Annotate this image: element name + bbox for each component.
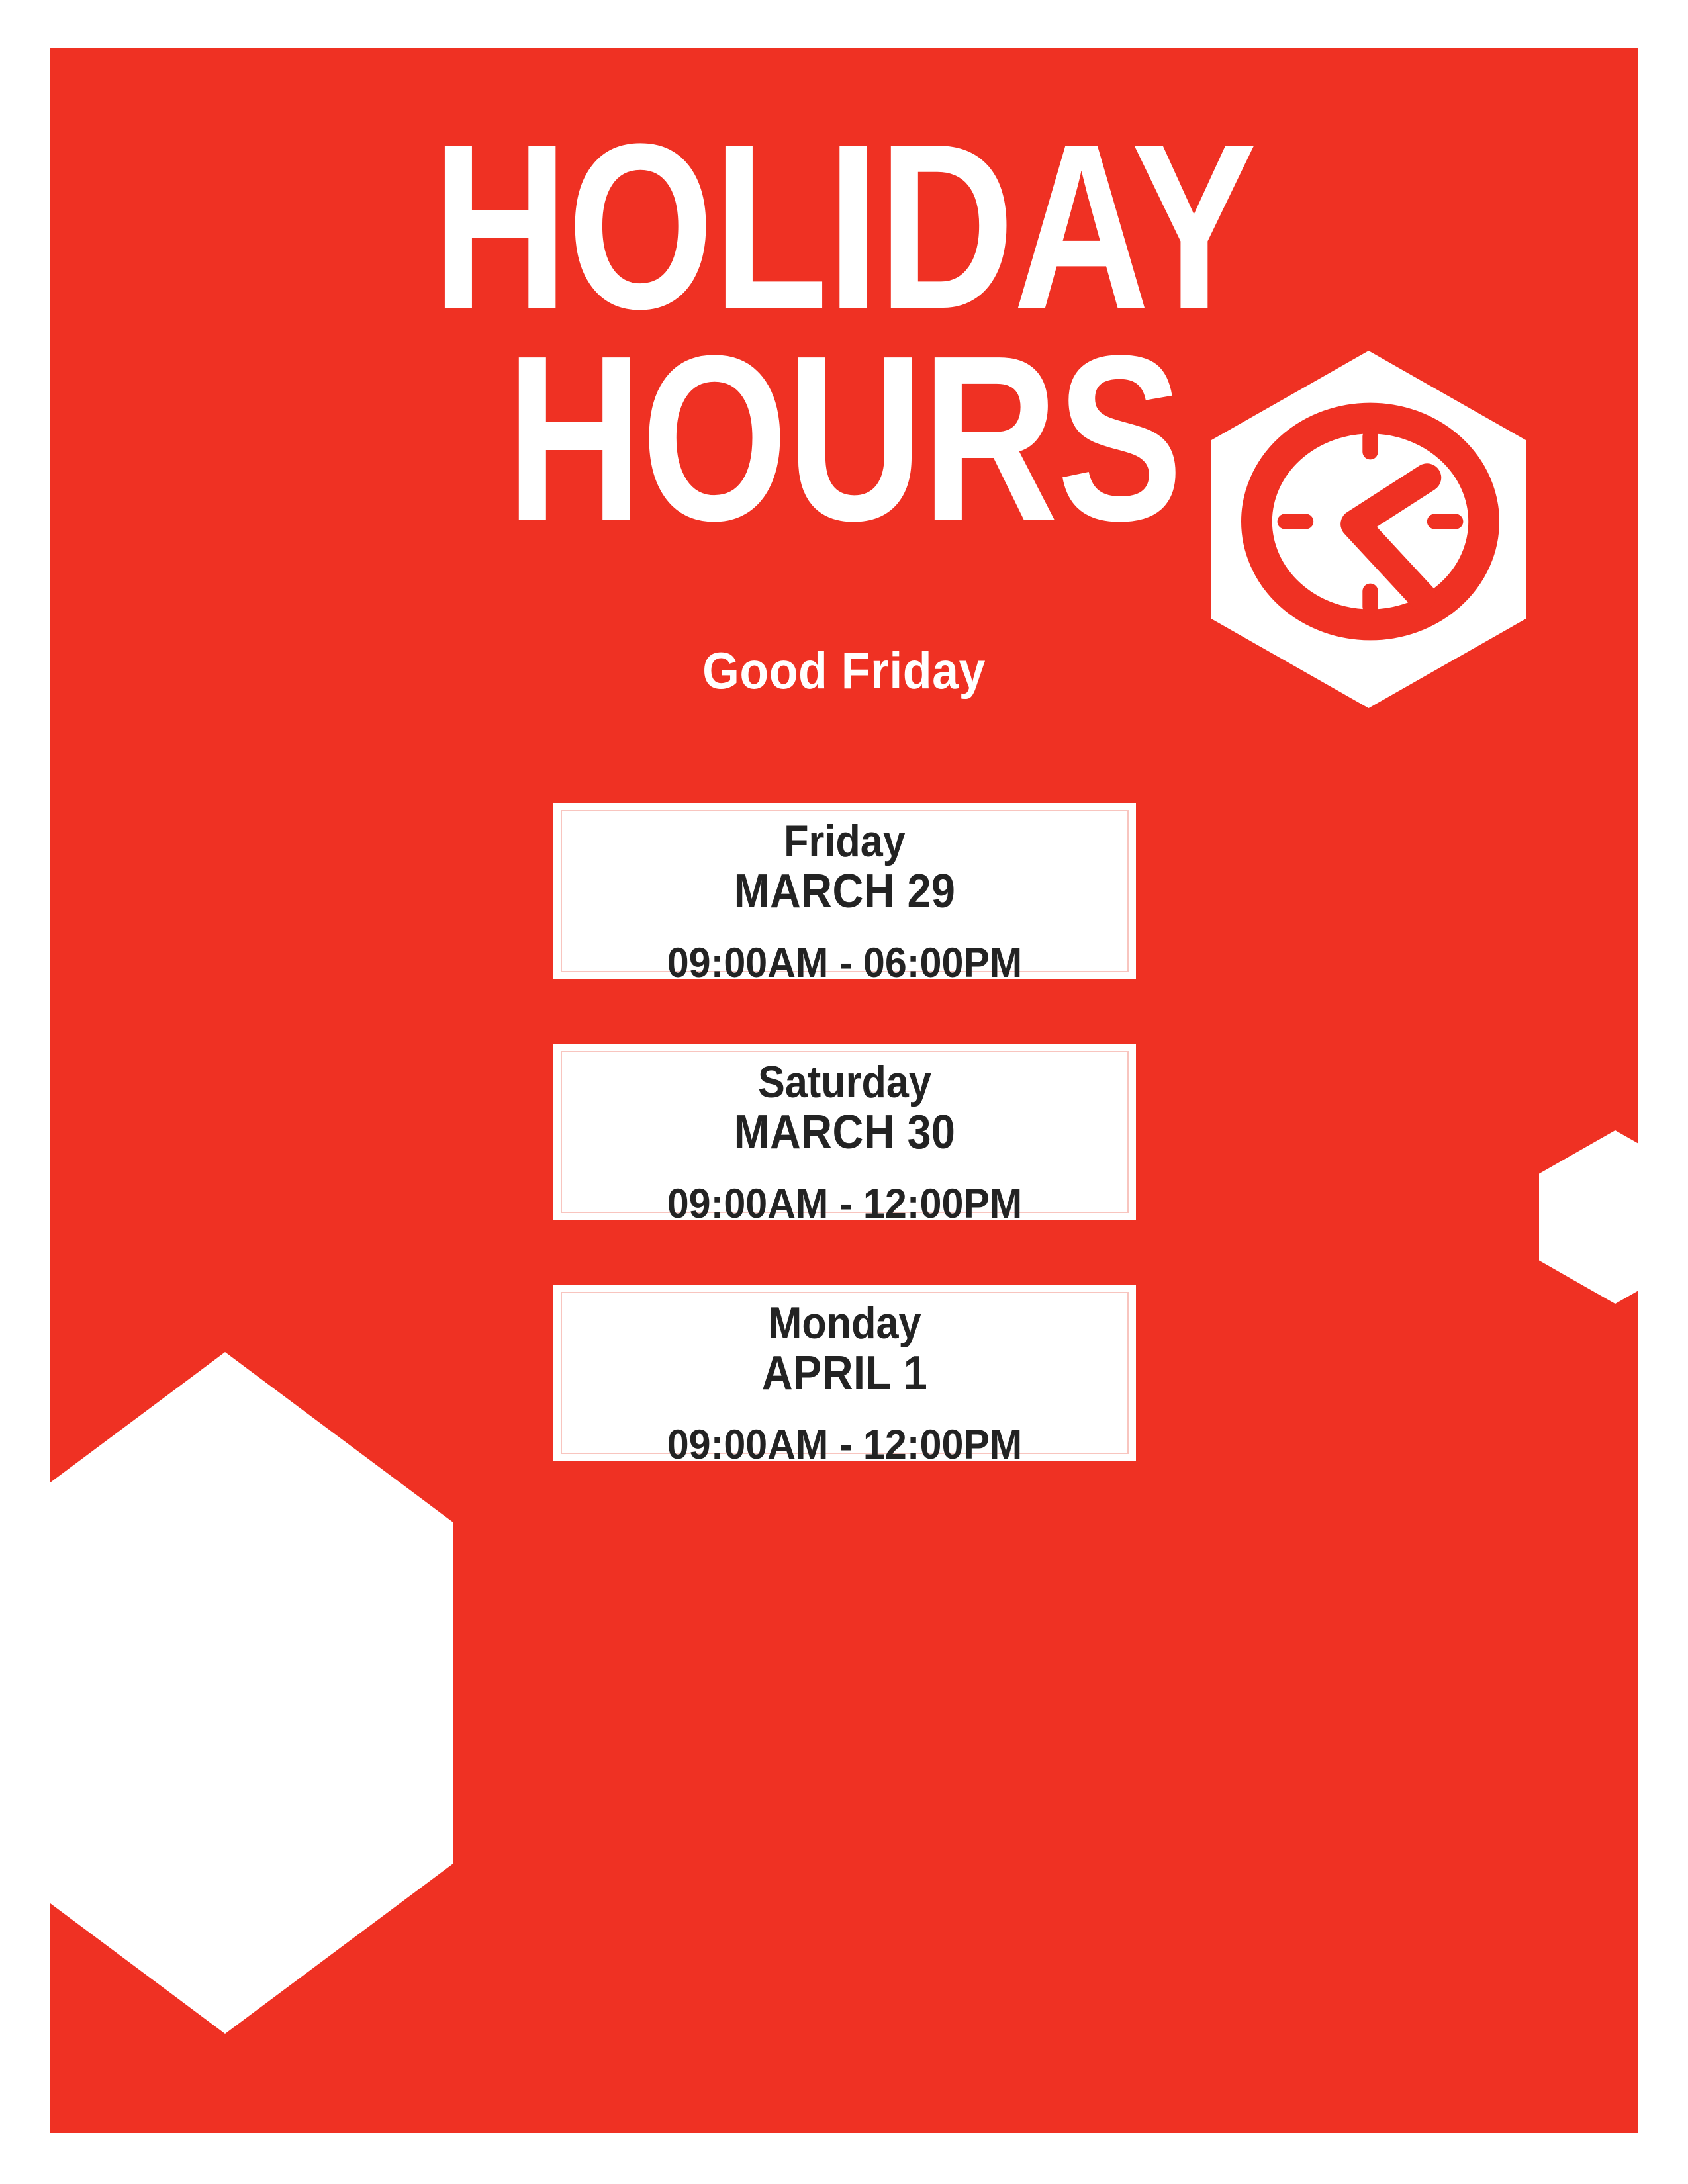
schedule-card: Monday APRIL 1 09:00AM - 12:00PM	[553, 1285, 1136, 1461]
schedule-hours: 09:00AM - 12:00PM	[571, 1424, 1118, 1466]
schedule-hours: 09:00AM - 12:00PM	[571, 1183, 1118, 1225]
schedule-day: Saturday	[583, 1058, 1107, 1106]
schedule-card: Saturday MARCH 30 09:00AM - 12:00PM	[553, 1044, 1136, 1220]
page-subtitle: Good Friday	[113, 641, 1575, 701]
schedule-date: APRIL 1	[583, 1347, 1107, 1400]
page-title: HOLIDAY HOURS	[50, 121, 1638, 545]
schedule-date: MARCH 30	[583, 1106, 1107, 1160]
page-title-line-2: HOURS	[209, 333, 1479, 545]
hexagon-decoration-corner-icon	[50, 1352, 453, 2034]
schedule-day: Friday	[583, 817, 1107, 865]
schedule-card: Friday MARCH 29 09:00AM - 06:00PM	[553, 803, 1136, 979]
schedule-list: Friday MARCH 29 09:00AM - 06:00PM Saturd…	[553, 803, 1136, 1461]
poster-red-panel: HOLIDAY HOURS Good Friday Friday MARCH 2…	[50, 48, 1638, 2133]
poster-page: HOLIDAY HOURS Good Friday Friday MARCH 2…	[0, 0, 1688, 2184]
schedule-day: Monday	[583, 1299, 1107, 1347]
schedule-date: MARCH 29	[583, 865, 1107, 919]
hexagon-decoration-small-icon	[1539, 1130, 1638, 1304]
schedule-hours: 09:00AM - 06:00PM	[571, 942, 1118, 984]
page-title-line-1: HOLIDAY	[209, 121, 1479, 333]
